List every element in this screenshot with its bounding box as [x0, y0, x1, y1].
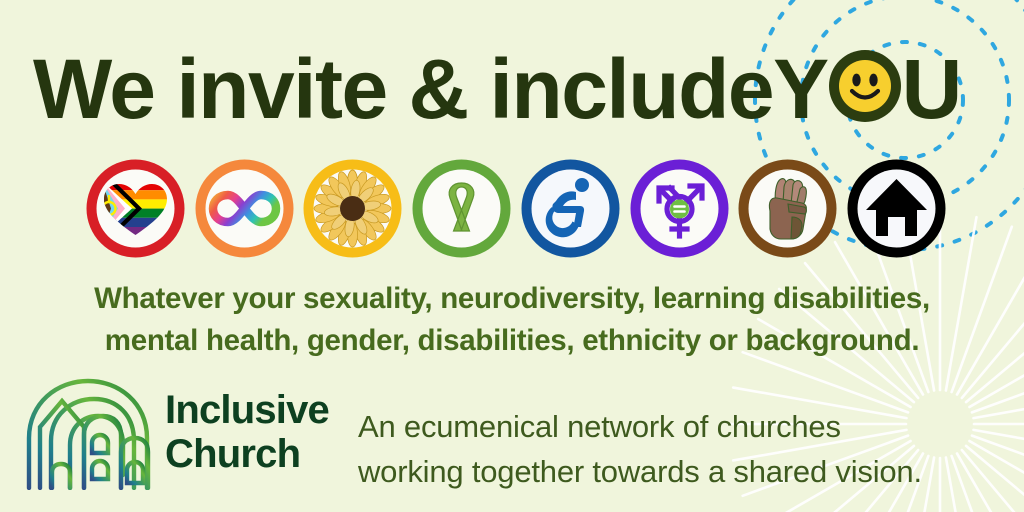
inclusion-statement-line-1: Whatever your sexuality, neurodiversity,…: [0, 278, 1024, 320]
tagline: An ecumenical network of churches workin…: [358, 404, 922, 495]
neurodiversity-infinity-badge[interactable]: [193, 157, 296, 260]
accessibility-wheelchair-badge[interactable]: [519, 157, 622, 260]
progress-pride-heart-badge[interactable]: [84, 157, 187, 260]
inclusive-church-wordmark: Inclusive Church: [165, 389, 329, 475]
home-badge[interactable]: [845, 157, 948, 260]
inclusive-church-logo-icon: [26, 375, 151, 490]
inclusion-badge-row: [84, 155, 948, 261]
tagline-line-2: working together towards a shared vision…: [358, 449, 922, 494]
inclusion-statement-line-2: mental health, gender, disabilities, eth…: [0, 320, 1024, 362]
wordmark-line-2: Church: [165, 433, 329, 476]
page-title: We invite & include Y U: [33, 44, 961, 131]
transgender-equality-badge[interactable]: [628, 157, 731, 260]
page-title-you-y: Y: [773, 47, 828, 131]
raised-fist-badge[interactable]: [736, 157, 839, 260]
page-title-prefix: We invite & include: [33, 47, 773, 131]
tagline-line-1: An ecumenical network of churches: [358, 404, 922, 449]
poster-canvas: We invite & include Y U: [0, 0, 1024, 512]
wordmark-line-1: Inclusive: [165, 389, 329, 432]
inclusive-church-logo[interactable]: Inclusive Church: [26, 375, 329, 490]
smiley-face-icon: [828, 49, 902, 123]
hidden-disabilities-sunflower-badge[interactable]: [301, 157, 404, 260]
mental-health-ribbon-badge[interactable]: [410, 157, 513, 260]
page-title-you-u: U: [902, 47, 961, 131]
inclusion-statement: Whatever your sexuality, neurodiversity,…: [0, 278, 1024, 363]
